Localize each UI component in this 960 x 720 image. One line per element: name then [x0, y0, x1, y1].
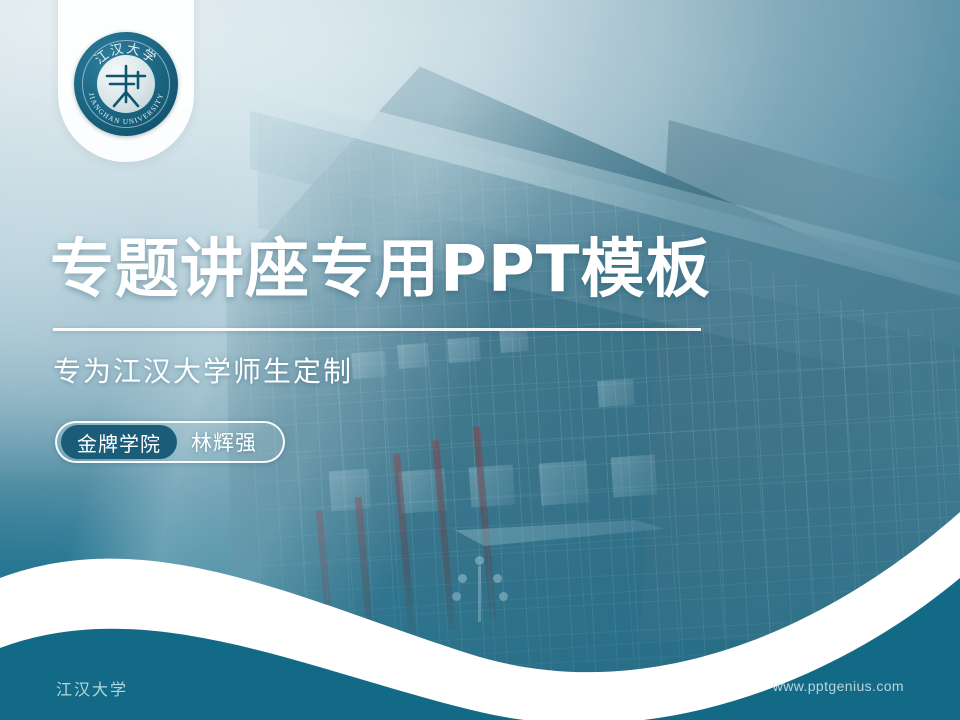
logo-panel: 江汉大学 JIANGHAN UNIVERSITY [58, 0, 194, 162]
footer-website-label[interactable]: www.pptgenius.com [773, 678, 904, 694]
page-subtitle: 专为江汉大学师生定制 [53, 350, 353, 390]
presenter-badge[interactable]: 金牌学院 林辉强 [55, 421, 285, 463]
stylized-figure-icon [107, 66, 145, 106]
footer-university-label: 江汉大学 [56, 676, 128, 700]
presentation-cover-slide: 江汉大学 JIANGHAN UNIVERSITY 专题讲座专用PPT模板 专为江… [0, 0, 960, 720]
page-title: 专题讲座专用PPT模板 [50, 238, 710, 302]
emblem-cn-text: 江汉大学 [92, 41, 160, 67]
emblem-artwork: 江汉大学 JIANGHAN UNIVERSITY [74, 32, 178, 136]
university-emblem-icon: 江汉大学 JIANGHAN UNIVERSITY [74, 32, 178, 136]
badge-chip-label: 金牌学院 [61, 425, 177, 459]
title-divider [53, 328, 701, 331]
presenter-name: 林辉强 [191, 427, 257, 457]
